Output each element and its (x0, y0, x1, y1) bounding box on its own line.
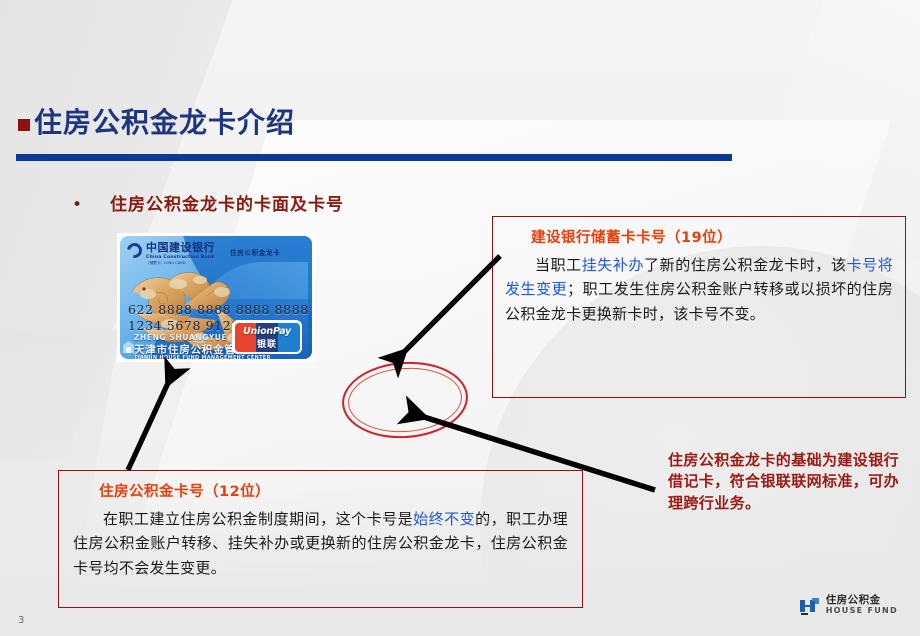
title-underline-rule (16, 154, 732, 161)
body-phrase: 当职工 (535, 256, 582, 274)
card-issuer-name-en: TIANJIN HOUSE FUND MANAGEMENT CENTER (134, 355, 271, 359)
subtitle-bullet-icon: • (72, 197, 82, 214)
unionpay-logo: UnionPay 银联 (232, 320, 302, 354)
ccb-logo-icon (124, 240, 145, 261)
card-bank-name-cn: 中国建设银行 (146, 242, 215, 253)
footer-logo: 住房公积金 HOUSE FUND (799, 595, 898, 616)
card-holder-name: ZHENG SHUANGYUE (134, 333, 227, 342)
card-product-name: 住房公积金龙卡 (230, 247, 280, 257)
card-bank-text-block: 中国建设银行 China Construction Bank （储蓄卡）LONG… (146, 242, 215, 266)
page-title-row: 住房公积金龙卡介绍 (18, 108, 295, 139)
callout-fund-card-number: 住房公积金卡号（12位） 在职工建立住房公积金制度期间，这个卡号是始终不变的，职… (58, 470, 583, 608)
body-phrase: 在职工建立住房公积金制度期间，这个卡号是 (103, 510, 413, 528)
callout-bottom-body-text: 在职工建立住房公积金制度期间，这个卡号是始终不变的，职工办理住房公积金账户转移、… (73, 510, 568, 577)
card-number-line-1: 622 8888 8888 8888 8888 (128, 302, 309, 317)
subtitle-text: 住房公积金龙卡的卡面及卡号 (110, 190, 344, 215)
bank-card-image: 中国建设银行 China Construction Bank （储蓄卡）LONG… (117, 233, 315, 362)
house-fund-logo-icon (799, 596, 820, 616)
highlighted-phrase: 始终不变 (413, 510, 475, 528)
highlighted-phrase: 挂失补办 (582, 256, 644, 274)
callout-top-body-text: 当职工挂失补办了新的住房公积金龙卡时，该卡号将发生变更；职工发生住房公积金账户转… (505, 256, 893, 323)
unionpay-wordmark-cn: 银联 (235, 337, 300, 350)
footer-logo-text-block: 住房公积金 HOUSE FUND (826, 595, 898, 616)
page-number: 3 (18, 615, 24, 626)
bank-card-face: 中国建设银行 China Construction Bank （储蓄卡）LONG… (120, 236, 312, 359)
unionpay-wordmark: UnionPay (235, 326, 300, 337)
subtitle-row: • 住房公积金龙卡的卡面及卡号 (72, 190, 344, 215)
footer-logo-name-cn: 住房公积金 (826, 595, 898, 606)
callout-top-body: 当职工挂失补办了新的住房公积金龙卡时，该卡号将发生变更；职工发生住房公积金账户转… (505, 253, 893, 326)
body-phrase: 了新的住房公积金龙卡时，该 (644, 256, 847, 274)
card-bank-name-en: China Construction Bank (146, 255, 215, 260)
callout-bottom-title: 住房公积金卡号（12位） (99, 480, 568, 501)
card-long-card-label: （储蓄卡）LONG CARD (146, 261, 215, 266)
card-bank-branding: 中国建设银行 China Construction Bank （储蓄卡）LONG… (127, 242, 215, 266)
slide-header: 住房公积金龙卡介绍 (18, 108, 295, 139)
callout-top-title: 建设银行储蓄卡卡号（19位） (531, 226, 893, 247)
red-note-text: 住房公积金龙卡的基础为建设银行借记卡，符合银联联网标准，可办理跨行业务。 (668, 450, 904, 514)
page-title: 住房公积金龙卡介绍 (34, 108, 295, 139)
callout-bottom-body: 在职工建立住房公积金制度期间，这个卡号是始终不变的，职工办理住房公积金账户转移、… (73, 507, 568, 580)
title-bullet-square-icon (18, 119, 30, 131)
unionpay-logo-inner: UnionPay 银联 (235, 323, 300, 352)
callout-debit-card-number: 建设银行储蓄卡卡号（19位） 当职工挂失补办了新的住房公积金龙卡时，该卡号将发生… (492, 216, 906, 398)
footer-logo-name-en: HOUSE FUND (826, 606, 898, 616)
